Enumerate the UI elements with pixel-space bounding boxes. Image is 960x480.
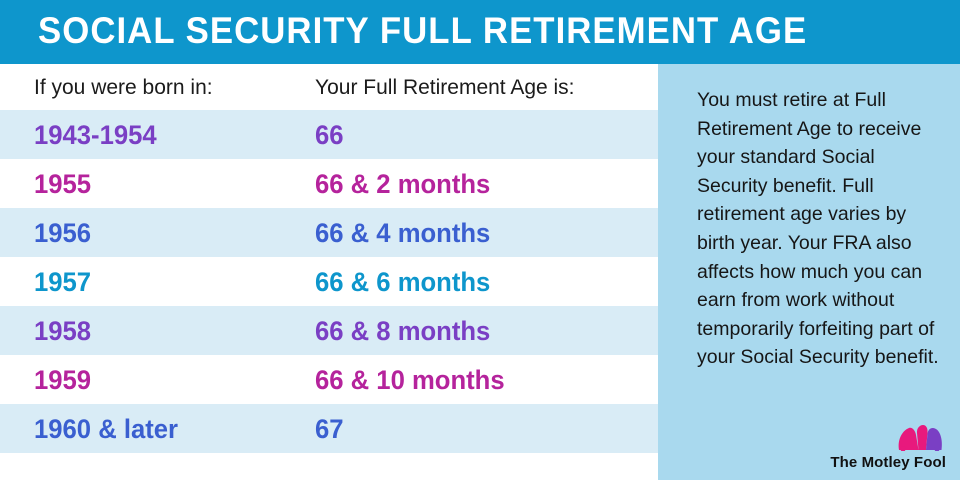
cell-full-retirement-age: 66 & 6 months — [315, 257, 490, 306]
cell-full-retirement-age: 67 — [315, 404, 344, 453]
table-row: 195566 & 2 months — [0, 159, 658, 208]
jester-hat-icon — [897, 425, 943, 451]
motley-fool-logo: The Motley Fool — [786, 425, 946, 471]
table-row: 195666 & 4 months — [0, 208, 658, 257]
page-title: SOCIAL SECURITY FULL RETIREMENT AGE — [38, 0, 807, 64]
cell-birth-year: 1956 — [34, 208, 91, 257]
cell-birth-year: 1959 — [34, 355, 91, 404]
table-row: 195966 & 10 months — [0, 355, 658, 404]
table-row: 195766 & 6 months — [0, 257, 658, 306]
table-row: 195866 & 8 months — [0, 306, 658, 355]
sidebar-note-text: You must retire at Full Retirement Age t… — [697, 86, 945, 372]
cell-full-retirement-age: 66 & 10 months — [315, 355, 505, 404]
column-header-birth-year: If you were born in: — [34, 64, 213, 110]
header-banner: SOCIAL SECURITY FULL RETIREMENT AGE — [0, 0, 960, 64]
cell-birth-year: 1943-1954 — [34, 110, 157, 159]
table-row: 1943-195466 — [0, 110, 658, 159]
cell-full-retirement-age: 66 — [315, 110, 344, 159]
retirement-age-table: If you were born in: Your Full Retiremen… — [0, 64, 658, 480]
cell-birth-year: 1955 — [34, 159, 91, 208]
table-row: 1960 & later67 — [0, 404, 658, 453]
logo-wordmark: The Motley Fool — [786, 454, 946, 471]
column-header-full-retirement-age: Your Full Retirement Age is: — [315, 64, 575, 110]
table-header-row: If you were born in: Your Full Retiremen… — [0, 64, 658, 110]
sidebar-panel: You must retire at Full Retirement Age t… — [658, 64, 960, 480]
cell-birth-year: 1958 — [34, 306, 91, 355]
infographic-root: SOCIAL SECURITY FULL RETIREMENT AGE If y… — [0, 0, 960, 480]
cell-full-retirement-age: 66 & 2 months — [315, 159, 490, 208]
cell-birth-year: 1957 — [34, 257, 91, 306]
cell-birth-year: 1960 & later — [34, 404, 178, 453]
cell-full-retirement-age: 66 & 8 months — [315, 306, 490, 355]
table-body: 1943-195466195566 & 2 months195666 & 4 m… — [0, 110, 658, 453]
cell-full-retirement-age: 66 & 4 months — [315, 208, 490, 257]
